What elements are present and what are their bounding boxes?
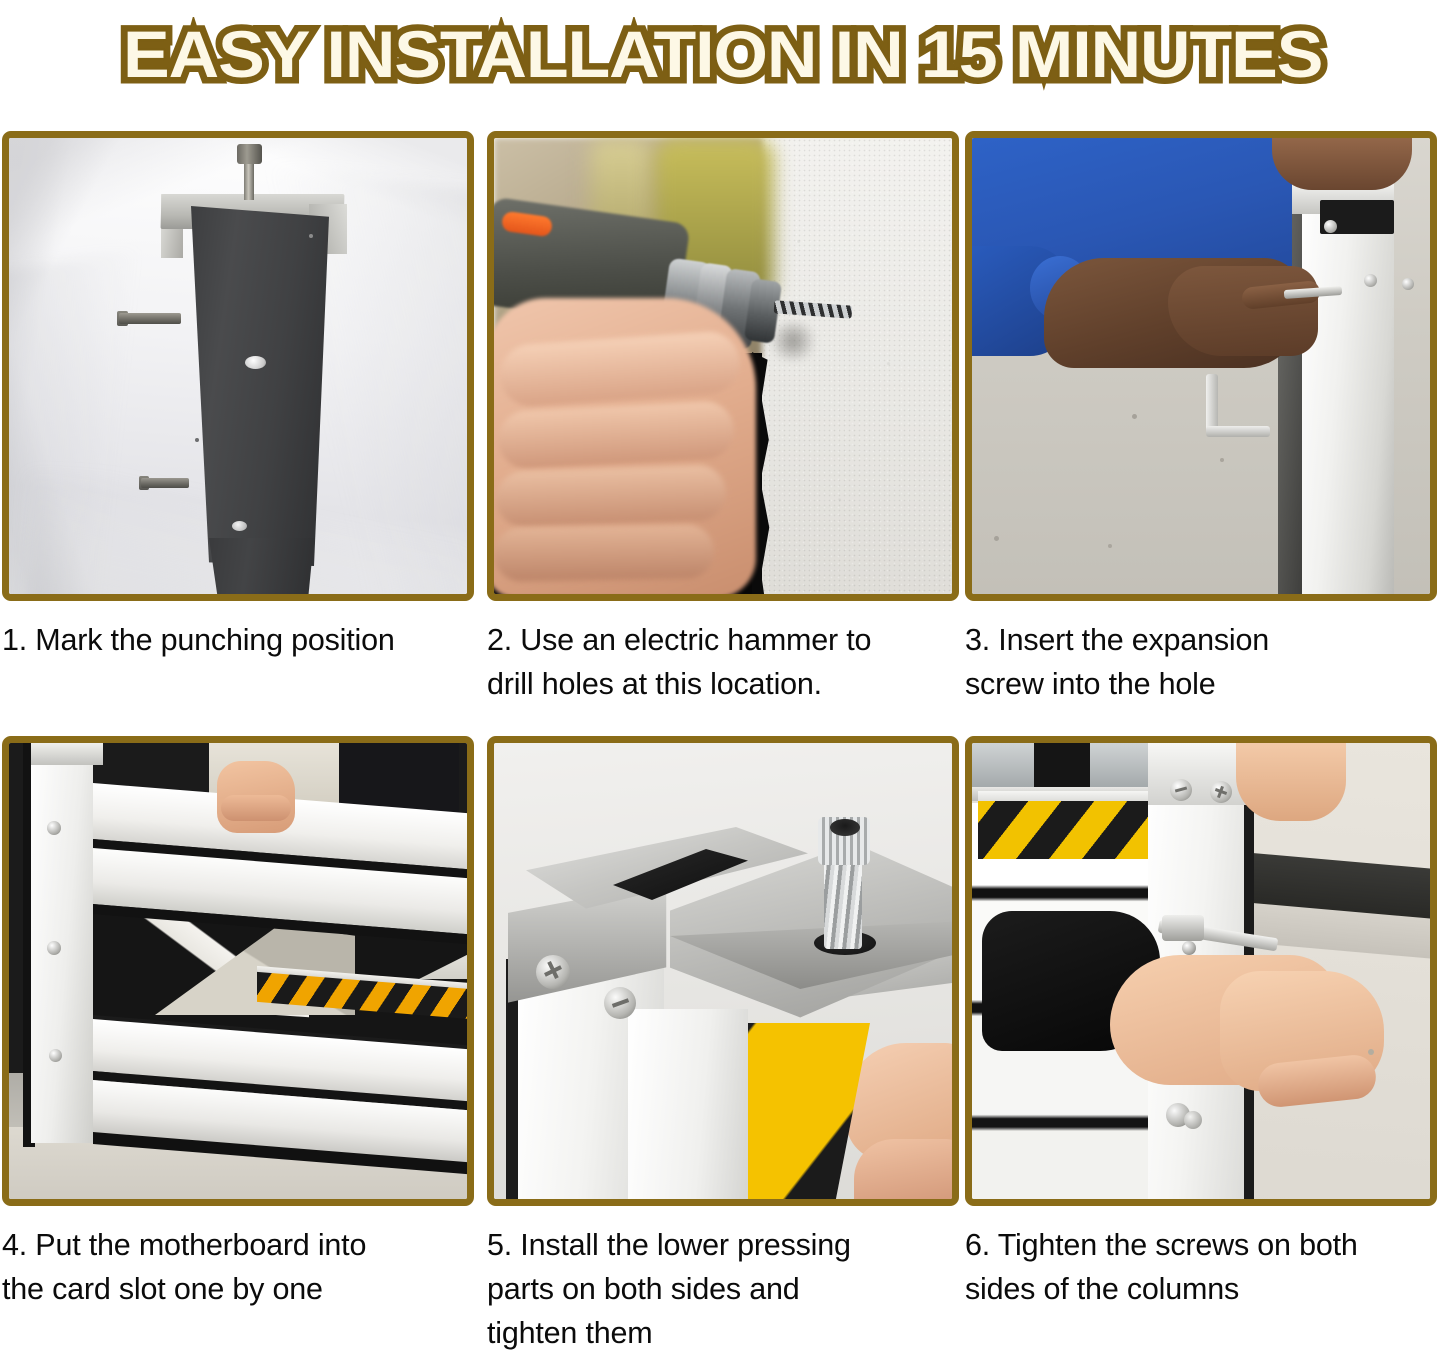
- step-photo-6: [972, 743, 1430, 1199]
- step-caption-5: 5. Install the lower pressing parts on b…: [487, 1223, 959, 1352]
- step-photo-5: [494, 743, 952, 1199]
- hex-key-ferrule: [1162, 915, 1204, 941]
- step-image-frame-5: [487, 736, 959, 1206]
- stud-lower: [141, 478, 189, 488]
- column-screw-middle: [47, 941, 61, 955]
- page-title: EASY INSTALLATION IN 15 MINUTES: [123, 19, 1322, 89]
- top-bolt-shaft: [244, 162, 254, 200]
- step-card-5: 5. Install the lower pressing parts on b…: [487, 736, 959, 1352]
- caption-line: screw into the hole: [965, 662, 1437, 706]
- installer-fingers: [221, 795, 291, 821]
- post-speck-2: [195, 438, 199, 442]
- worker-second-hand: [1272, 138, 1412, 190]
- finger-3: [495, 464, 727, 528]
- caption-line: sides of the columns: [965, 1267, 1437, 1311]
- caption-line: 2. Use an electric hammer to: [487, 618, 959, 662]
- column-cap: [31, 743, 103, 765]
- white-board-front: [628, 1009, 748, 1199]
- finger-4: [494, 524, 714, 582]
- step-image-frame-3: [965, 131, 1437, 601]
- step-caption-3: 3. Insert the expansion screw into the h…: [965, 618, 1437, 706]
- drill-dust-cloud: [766, 322, 820, 360]
- step-photo-3: [972, 138, 1430, 594]
- infographic-root: EASY INSTALLATION IN 15 MINUTES: [0, 0, 1445, 1352]
- step-image-frame-1: [2, 131, 474, 601]
- steps-grid: 1. Mark the punching position: [0, 108, 1445, 1352]
- floor-speck: [1368, 1049, 1374, 1055]
- column-screw-lower: [49, 1049, 62, 1062]
- caption-line: tighten them: [487, 1311, 959, 1352]
- column-screw-1: [1324, 220, 1337, 233]
- wall-texture: [762, 138, 952, 594]
- floor-speck-4: [1108, 544, 1112, 548]
- floor-speck-2: [1220, 458, 1224, 462]
- step-caption-4: 4. Put the motherboard into the card slo…: [2, 1223, 474, 1311]
- caption-line: the card slot one by one: [2, 1267, 474, 1311]
- punch-hole-upper: [245, 356, 266, 369]
- thumbscrew-thread: [824, 853, 862, 949]
- step-card-6: 6. Tighten the screws on both sides of t…: [965, 736, 1437, 1311]
- second-hand: [1236, 743, 1346, 821]
- step-image-frame-6: [965, 736, 1437, 1206]
- column-screw-3: [1402, 278, 1414, 290]
- floor-speck-3: [994, 536, 999, 541]
- step-caption-2: 2. Use an electric hammer to drill holes…: [487, 618, 959, 706]
- thumbscrew-socket: [830, 819, 860, 836]
- step-photo-2: [494, 138, 952, 594]
- upper-frame-slot: [1034, 743, 1090, 791]
- step-image-frame-4: [2, 736, 474, 1206]
- step-card-4: 4. Put the motherboard into the card slo…: [2, 736, 474, 1311]
- top-bolt-head: [237, 144, 262, 164]
- header-banner: EASY INSTALLATION IN 15 MINUTES: [0, 0, 1445, 108]
- step-image-frame-2: [487, 131, 959, 601]
- allen-key-short-arm: [1206, 426, 1270, 437]
- finger-2: [497, 400, 736, 470]
- caption-line: parts on both sides and: [487, 1267, 959, 1311]
- post-speck-1: [309, 234, 313, 238]
- step-card-1: 1. Mark the punching position: [2, 131, 474, 662]
- step-caption-1: 1. Mark the punching position: [2, 618, 474, 662]
- stud-upper: [119, 313, 181, 324]
- caption-line: 1. Mark the punching position: [2, 618, 474, 662]
- step-photo-1: [9, 138, 467, 594]
- step-card-3: 3. Insert the expansion screw into the h…: [965, 131, 1437, 706]
- installer-finger: [854, 1139, 952, 1199]
- hex-key-tip: [1182, 941, 1196, 955]
- caption-line: 6. Tighten the screws on both: [965, 1223, 1437, 1267]
- column-screw-upper: [47, 821, 61, 835]
- step-card-2: 2. Use an electric hammer to drill holes…: [487, 131, 959, 706]
- caption-line: 5. Install the lower pressing: [487, 1223, 959, 1267]
- white-column: [1302, 186, 1394, 594]
- hazard-stripe-tape: [978, 801, 1148, 859]
- card-slot-column: [31, 743, 93, 1143]
- step-photo-4: [9, 743, 467, 1199]
- worker-hand: [1168, 266, 1318, 356]
- punch-hole-lower: [232, 521, 247, 531]
- caption-line: drill holes at this location.: [487, 662, 959, 706]
- caption-line: 3. Insert the expansion: [965, 618, 1437, 662]
- lower-column-screw-head: [1184, 1111, 1202, 1129]
- caption-line: 4. Put the motherboard into: [2, 1223, 474, 1267]
- floor-speck-1: [1132, 414, 1137, 419]
- column-screw-2: [1364, 274, 1377, 287]
- step-caption-6: 6. Tighten the screws on both sides of t…: [965, 1223, 1437, 1311]
